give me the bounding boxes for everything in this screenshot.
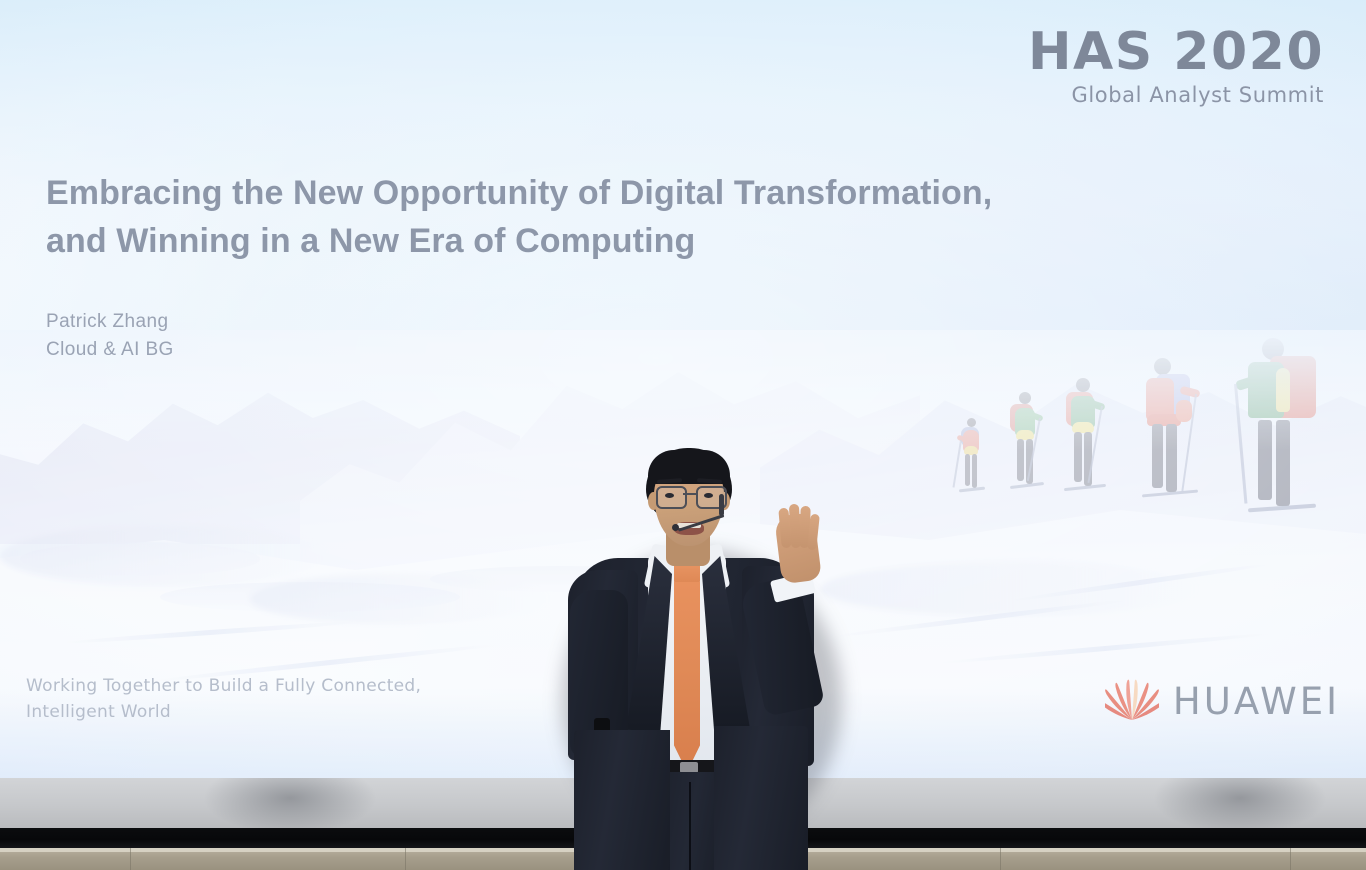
floor-seam — [1290, 848, 1291, 870]
corporate-tagline: Working Together to Build a Fully Connec… — [26, 674, 421, 725]
speaker-org: Cloud & AI BG — [46, 336, 174, 364]
slide-title: Embracing the New Opportunity of Digital… — [46, 170, 1246, 265]
headset-earpiece — [719, 494, 724, 516]
ski-mountaineer — [1060, 378, 1112, 518]
speaker-jacket-hem-left — [574, 730, 670, 870]
speaker-person — [556, 430, 856, 870]
huawei-petal-logo-icon — [1105, 676, 1159, 727]
slide-title-line-2: and Winning in a New Era of Computing — [46, 218, 1246, 266]
tagline-line-1: Working Together to Build a Fully Connec… — [26, 674, 421, 700]
snow-shading — [250, 574, 550, 624]
ski-mountaineer — [1240, 338, 1328, 554]
floor-seam — [130, 848, 131, 870]
wall-shadow — [190, 778, 390, 828]
floor-seam — [1000, 848, 1001, 870]
huawei-wordmark: HUAWEI — [1173, 680, 1340, 723]
speaker-eye-right — [704, 493, 713, 498]
tagline-line-2: Intelligent World — [26, 700, 421, 726]
ski-mountaineer — [1005, 392, 1049, 512]
snow-shading — [820, 562, 1200, 616]
speaker-name: Patrick Zhang — [46, 308, 174, 336]
event-logo-subtitle: Global Analyst Summit — [1028, 85, 1324, 106]
headset-microphone-tip — [672, 524, 679, 531]
event-logo-main: HAS 2020 — [1028, 26, 1324, 78]
slide-title-line-1: Embracing the New Opportunity of Digital… — [46, 170, 1246, 218]
slide-speaker-credit: Patrick Zhang Cloud & AI BG — [46, 308, 174, 363]
keynote-stage-scene: HAS 2020 Global Analyst Summit Embracing… — [0, 0, 1366, 870]
speaker-tie — [674, 582, 700, 772]
floor-seam — [405, 848, 406, 870]
snow-shading — [0, 526, 330, 586]
wall-shadow — [1140, 778, 1340, 828]
ski-mountaineer — [955, 418, 989, 510]
speaker-trouser-crease — [689, 782, 691, 870]
speaker-jacket-hem-right — [714, 726, 808, 870]
eyeglasses-bridge — [683, 493, 696, 495]
huawei-brand-logo: HUAWEI — [1105, 676, 1340, 727]
ski-mountaineer — [1140, 358, 1204, 534]
event-logo: HAS 2020 Global Analyst Summit — [1028, 26, 1324, 106]
speaker-eye-left — [665, 493, 674, 498]
